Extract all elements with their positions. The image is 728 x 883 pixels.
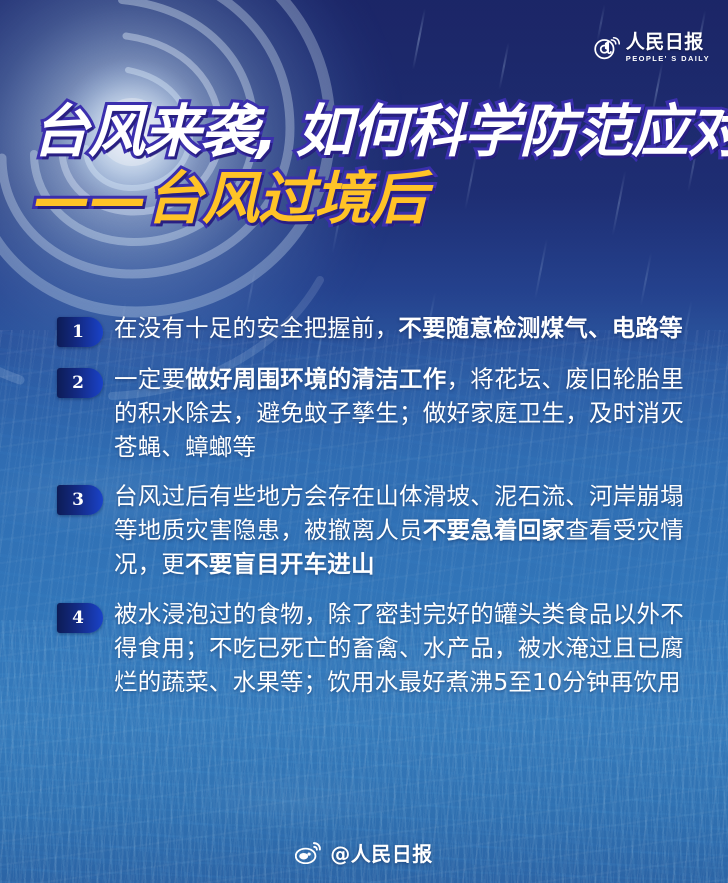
tip-row: 4被水浸泡过的食物，除了密封完好的罐头类食品以外不得食用；不吃已死亡的畜禽、水产… bbox=[0, 598, 728, 699]
tip-text-emphasis: 做好周围环境的清洁工作 bbox=[185, 365, 446, 393]
tip-text-plain: 被水浸泡过的食物，除了密封完好的罐头类食品以外不得食用；不吃已死亡的畜禽、水产品… bbox=[114, 600, 684, 696]
headline-line-2: ——台风过境后 bbox=[34, 171, 712, 228]
logo-english-name: PEOPLE' S DAILY bbox=[626, 55, 710, 63]
tip-number-badge: 4 bbox=[57, 603, 103, 633]
tip-row: 2一定要做好周围环境的清洁工作，将花坛、废旧轮胎里的积水除去，避免蚊子孳生；做好… bbox=[0, 363, 728, 464]
tip-number-badge: 1 bbox=[57, 317, 103, 347]
poster-root: 人民日报 PEOPLE' S DAILY 台风来袭, 如何科学防范应对? ——台… bbox=[0, 0, 728, 883]
logo-chinese-name: 人民日报 bbox=[626, 33, 710, 52]
tip-text: 一定要做好周围环境的清洁工作，将花坛、废旧轮胎里的积水除去，避免蚊子孳生；做好家… bbox=[114, 363, 684, 464]
tip-text-emphasis: 不要随意检测煤气、电路等 bbox=[398, 314, 682, 342]
tip-number-badge: 2 bbox=[57, 368, 103, 398]
tip-row: 3台风过后有些地方会存在山体滑坡、泥石流、河岸崩塌等地质灾害隐患，被撤离人员不要… bbox=[0, 480, 728, 581]
footer-credit: @人民日报 bbox=[0, 838, 728, 867]
tip-text-emphasis: 不要急着回家 bbox=[423, 516, 566, 544]
tip-text: 在没有十足的安全把握前，不要随意检测煤气、电路等 bbox=[114, 312, 684, 346]
at-megaphone-icon bbox=[593, 36, 621, 64]
tip-row: 1在没有十足的安全把握前，不要随意检测煤气、电路等 bbox=[0, 312, 728, 347]
footer-handle: @人民日报 bbox=[330, 838, 433, 867]
tip-text-plain: 一定要 bbox=[114, 365, 185, 393]
peoples-daily-logo: 人民日报 PEOPLE' S DAILY bbox=[593, 33, 710, 64]
weibo-icon bbox=[295, 841, 322, 864]
tip-number-badge: 3 bbox=[57, 485, 103, 515]
tip-text: 台风过后有些地方会存在山体滑坡、泥石流、河岸崩塌等地质灾害隐患，被撤离人员不要急… bbox=[114, 480, 684, 581]
tip-text-plain: 在没有十足的安全把握前， bbox=[114, 314, 398, 342]
tips-list: 1在没有十足的安全把握前，不要随意检测煤气、电路等2一定要做好周围环境的清洁工作… bbox=[0, 312, 728, 715]
headline-line-1: 台风来袭, 如何科学防范应对? bbox=[32, 104, 712, 161]
headline-block: 台风来袭, 如何科学防范应对? ——台风过境后 bbox=[32, 104, 712, 228]
tip-text-emphasis: 不要盲目开车进山 bbox=[185, 550, 375, 578]
tip-text: 被水浸泡过的食物，除了密封完好的罐头类食品以外不得食用；不吃已死亡的畜禽、水产品… bbox=[114, 598, 684, 699]
